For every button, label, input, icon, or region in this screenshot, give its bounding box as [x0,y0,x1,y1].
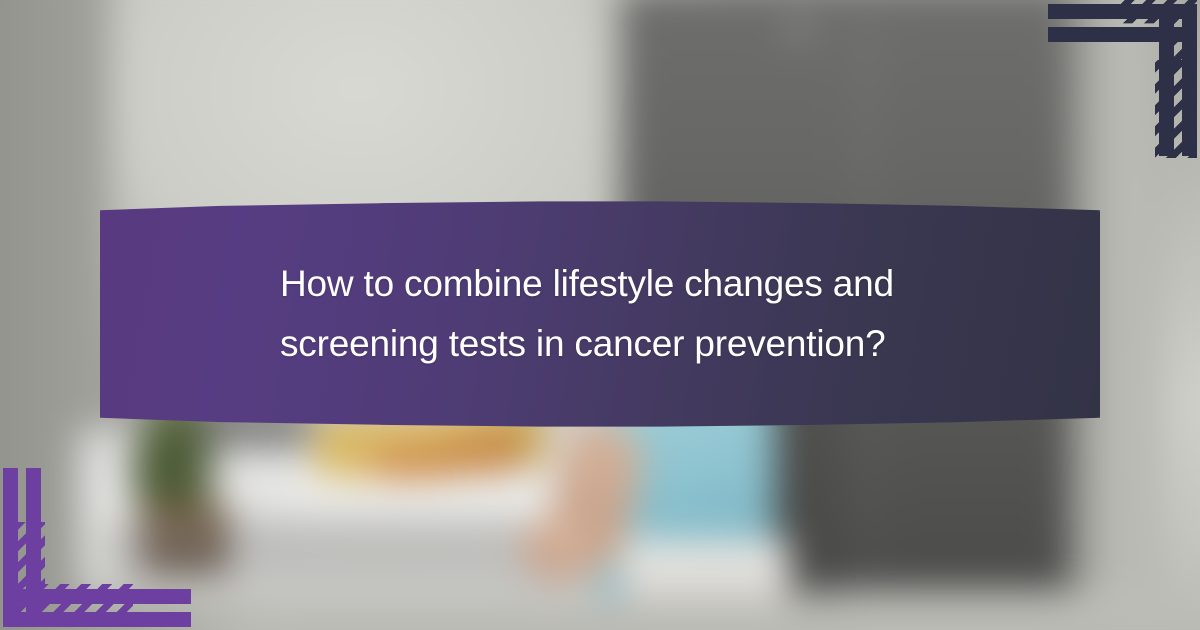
background-door-knob [786,18,812,40]
background-person-lower [620,540,790,600]
page-title-line-1: How to combine lifestyle changes and [280,257,1040,311]
corner-bar-horizontal-1 [3,589,191,604]
corner-bar-horizontal-2 [3,612,191,627]
corner-bar-vertical-2 [1182,4,1197,156]
title-card-text: How to combine lifestyle changes and scr… [280,200,1040,428]
page-title-line-2: screening tests in cancer prevention? [280,317,1040,371]
corner-bar-vertical-1 [1159,4,1174,156]
corner-stripes-top-right [1040,0,1200,160]
corner-stripes-bottom-left [0,465,200,630]
title-card: How to combine lifestyle changes and scr… [100,200,1100,428]
